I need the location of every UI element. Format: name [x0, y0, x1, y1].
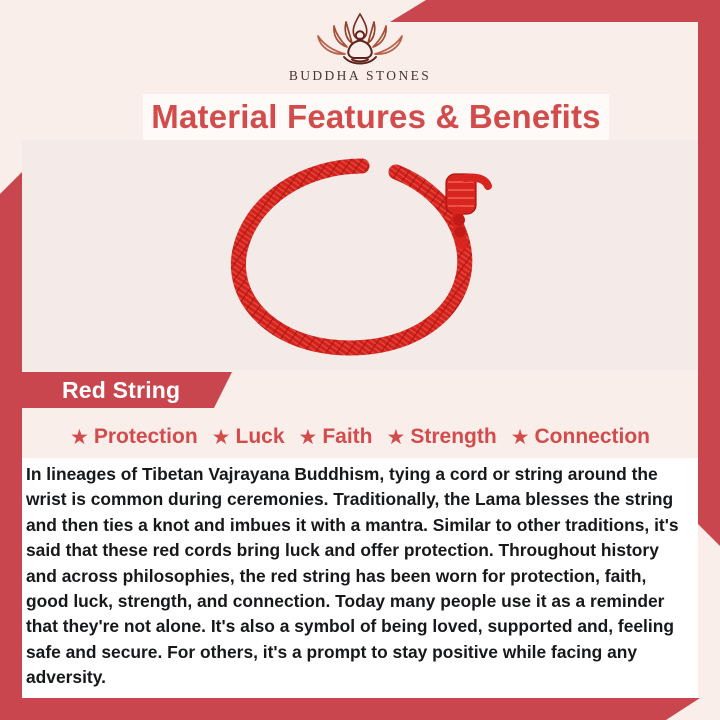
- page-title: Material Features & Benefits: [151, 98, 600, 136]
- star-icon: ★: [387, 427, 406, 448]
- benefit-item-strength: ★ Strength: [382, 425, 502, 449]
- brand-name: BUDDHA STONES: [289, 68, 431, 84]
- infographic-page: BUDDHA STONES Material Features & Benefi…: [0, 0, 720, 720]
- description-panel: In lineages of Tibetan Vajrayana Buddhis…: [22, 458, 698, 698]
- description-text: In lineages of Tibetan Vajrayana Buddhis…: [26, 462, 688, 691]
- benefit-label-protection: Protection: [94, 425, 198, 449]
- benefit-label-luck: Luck: [236, 425, 285, 449]
- brand-logo: BUDDHA STONES: [0, 10, 720, 94]
- red-braided-string-bracelet-icon: [210, 154, 510, 359]
- hero-image-area: [22, 140, 698, 370]
- product-name-tag: Red String: [0, 372, 232, 408]
- star-icon: ★: [299, 427, 318, 448]
- benefit-label-strength: Strength: [410, 425, 496, 449]
- benefit-item-faith: ★ Faith: [294, 425, 378, 449]
- star-icon: ★: [511, 427, 530, 448]
- frame-left-bar: [0, 172, 22, 702]
- lotus-meditation-icon: [300, 10, 420, 66]
- benefit-label-connection: Connection: [535, 425, 651, 449]
- star-icon: ★: [70, 427, 89, 448]
- benefit-item-connection: ★ Connection: [506, 425, 655, 449]
- star-icon: ★: [212, 427, 231, 448]
- benefit-label-faith: Faith: [322, 425, 372, 449]
- frame-bottom-bar: [0, 698, 700, 720]
- title-banner: Material Features & Benefits: [143, 94, 609, 140]
- benefit-item-protection: ★ Protection: [65, 425, 203, 449]
- frame-right-bar: [698, 18, 720, 546]
- benefit-item-luck: ★ Luck: [207, 425, 290, 449]
- product-name-label: Red String: [62, 377, 180, 404]
- benefits-row: ★ Protection ★ Luck ★ Faith ★ Strength ★…: [22, 418, 698, 456]
